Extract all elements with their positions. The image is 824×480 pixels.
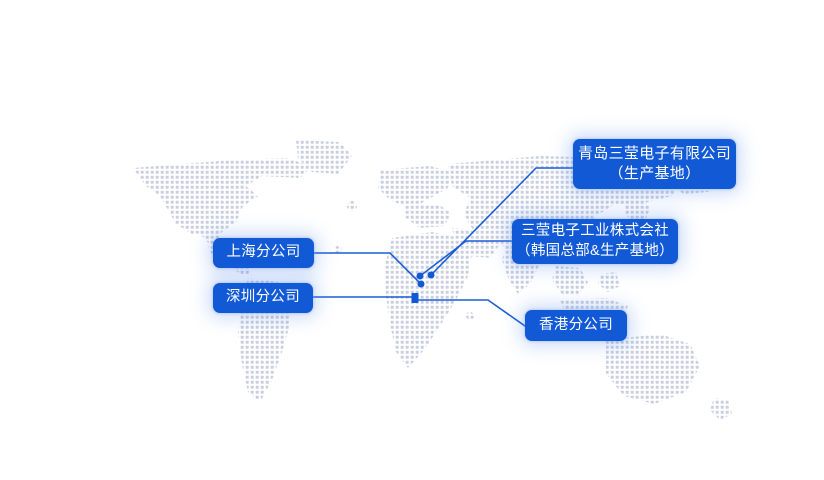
world-map-svg xyxy=(0,0,824,480)
location-dot-qingdao[interactable] xyxy=(428,272,435,279)
label-hongkong-branch[interactable]: 香港分公司 xyxy=(525,310,627,341)
label-korea-line-2: （韩国总部&生产基地） xyxy=(516,242,674,261)
label-qingdao-line-2: （生产基地） xyxy=(609,164,701,184)
world-map-dot-canvas xyxy=(0,0,824,480)
label-korea-hq[interactable]: 三莹电子工业株式会社 （韩国总部&生产基地） xyxy=(512,219,678,264)
label-hongkong-line-1: 香港分公司 xyxy=(539,316,613,335)
label-korea-line-1: 三莹电子工业株式会社 xyxy=(521,222,669,241)
location-dot-shanghai[interactable] xyxy=(418,281,425,288)
label-qingdao-line-1: 青岛三莹电子有限公司 xyxy=(578,144,731,164)
location-dot-korea[interactable] xyxy=(417,273,424,280)
label-shenzhen-branch[interactable]: 深圳分公司 xyxy=(213,283,313,313)
world-map-infographic: 青岛三莹电子有限公司 （生产基地） 三莹电子工业株式会社 （韩国总部&生产基地）… xyxy=(0,0,824,480)
label-qingdao[interactable]: 青岛三莹电子有限公司 （生产基地） xyxy=(573,139,736,189)
location-dot-shenzhen[interactable] xyxy=(412,293,419,303)
label-shenzhen-line-1: 深圳分公司 xyxy=(226,288,300,307)
label-shanghai-branch[interactable]: 上海分公司 xyxy=(213,238,314,268)
label-shanghai-line-1: 上海分公司 xyxy=(227,243,301,262)
